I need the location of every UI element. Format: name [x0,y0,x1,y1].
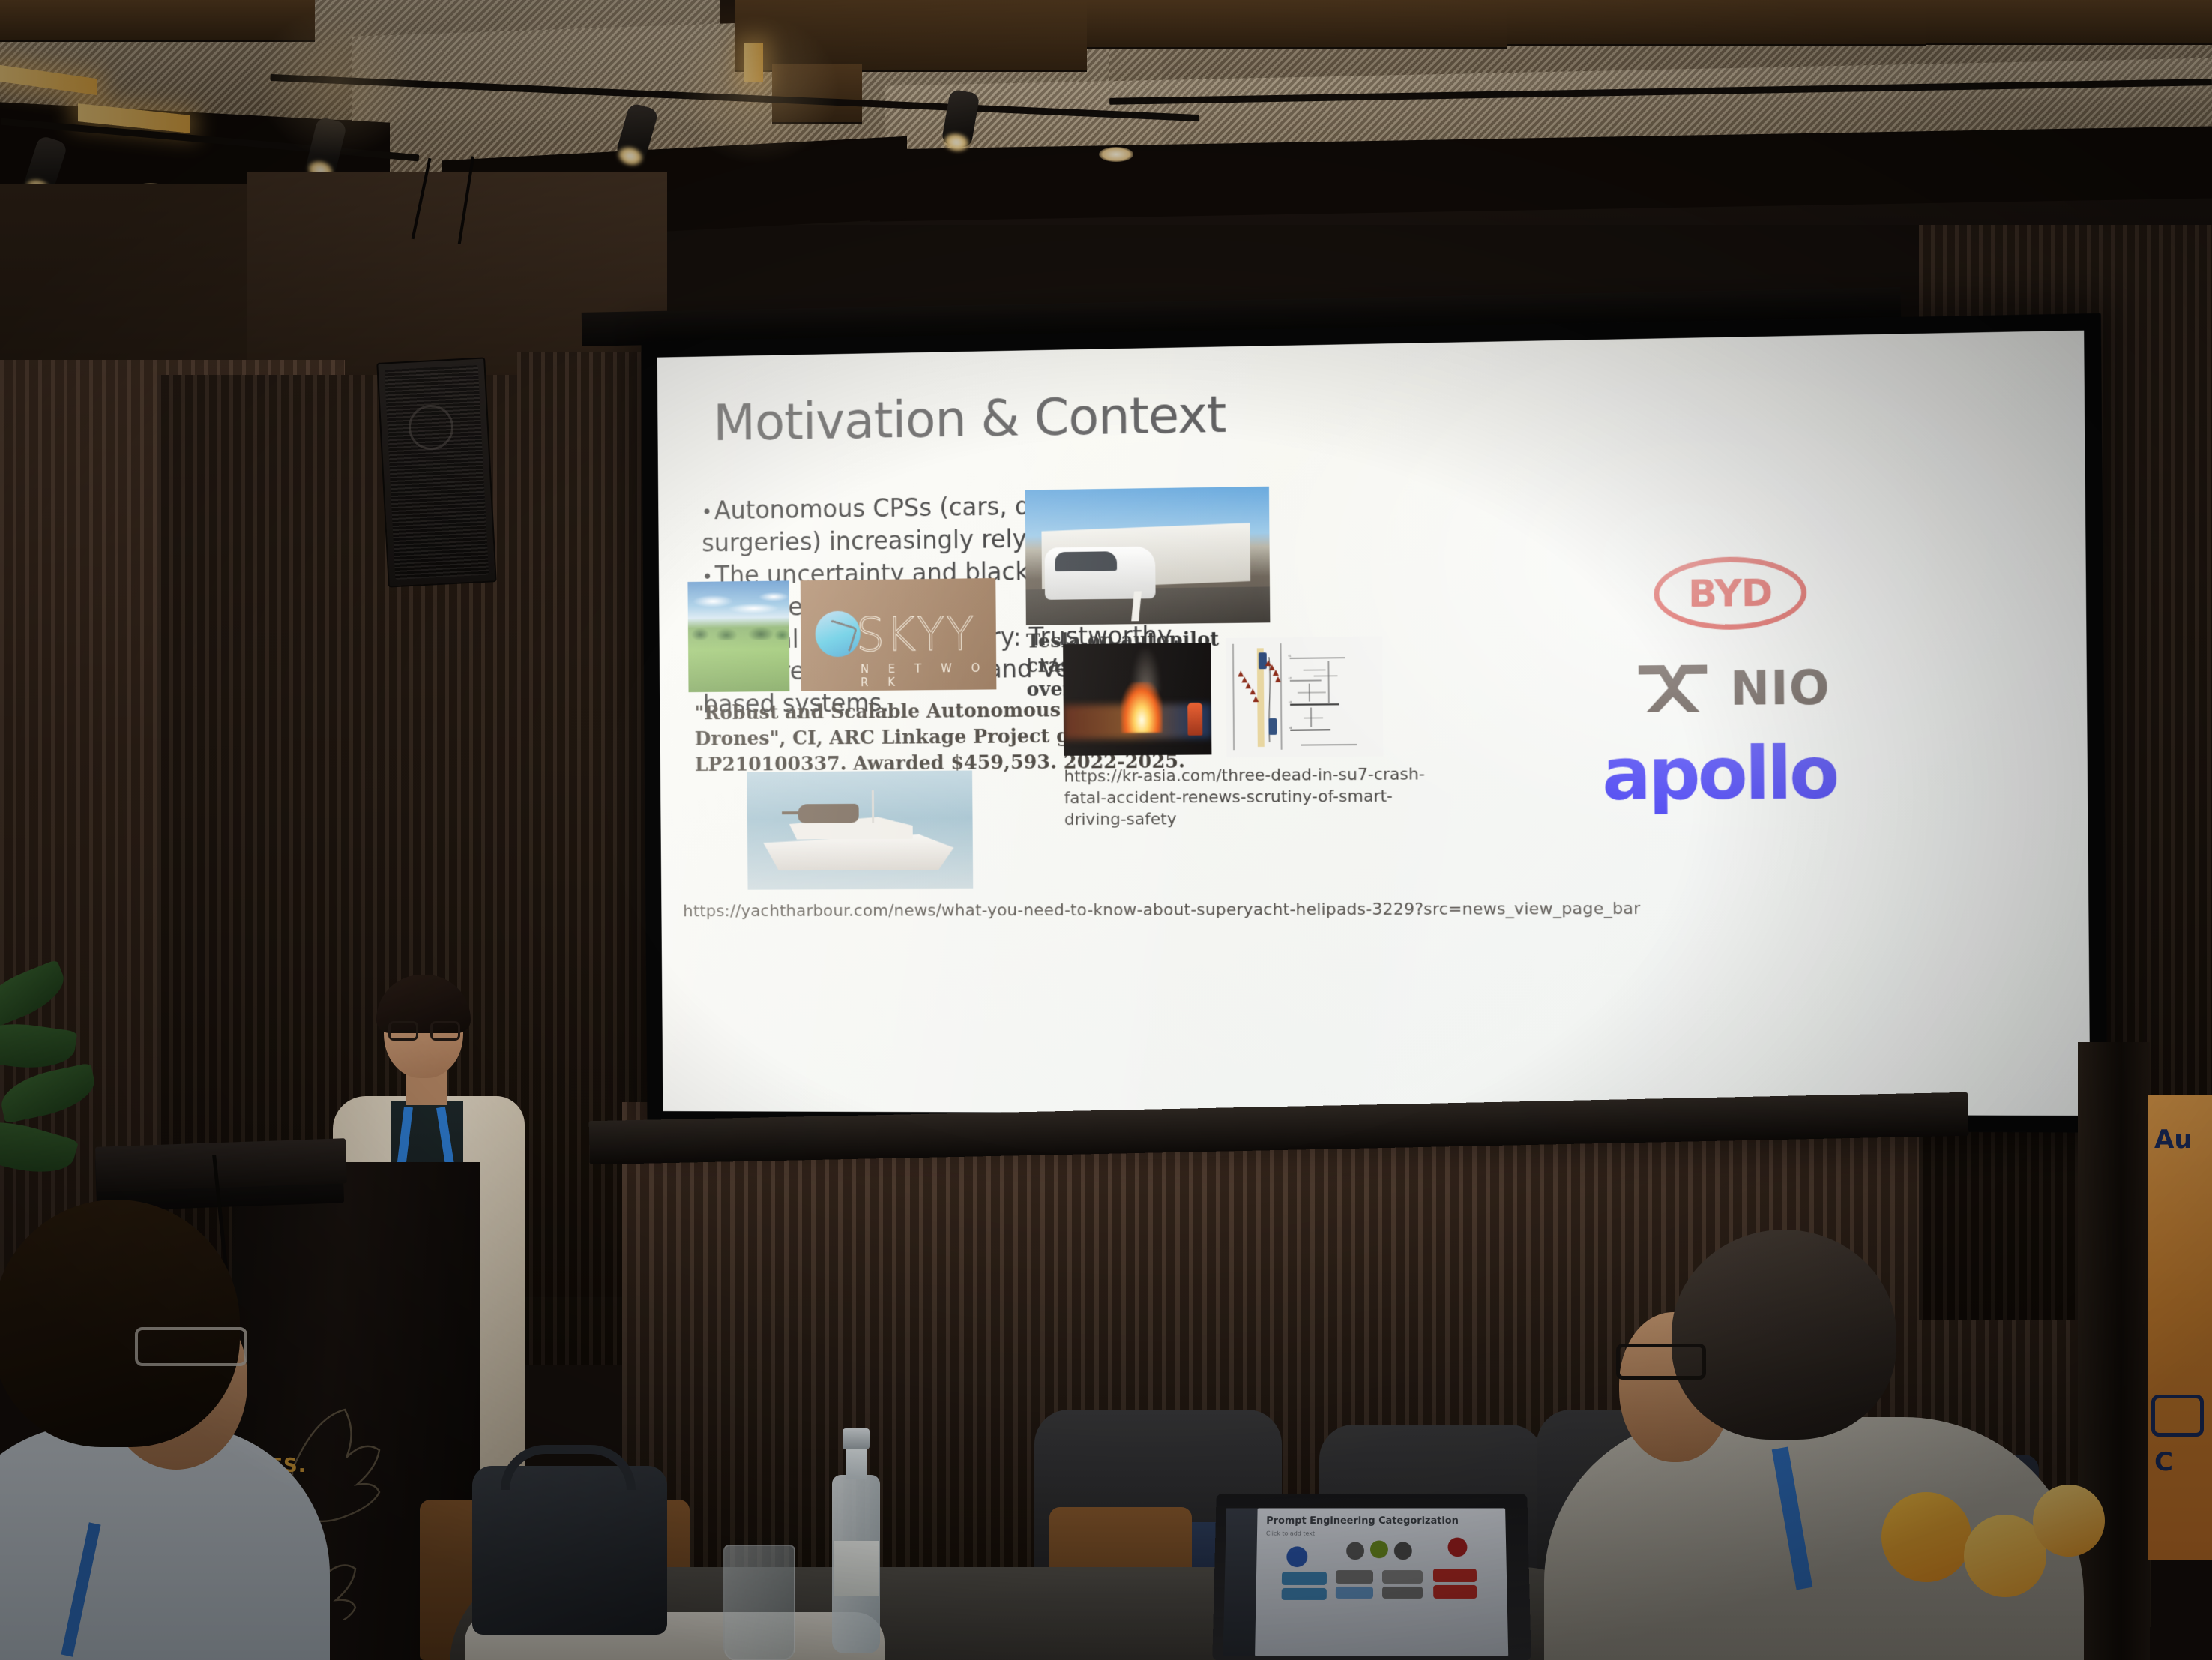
laptop-diagram-box [1433,1569,1477,1582]
bag-strap [501,1445,636,1490]
nio-wordmark: NIO [1730,659,1830,715]
ceiling-wood-beam [0,0,315,42]
laptop-diagram-node [1447,1538,1467,1557]
car-rear-window [1055,551,1117,571]
backpack-on-chair [472,1466,667,1635]
laptop-diagram-box [1282,1588,1327,1600]
plant-leaf [0,1017,77,1075]
krasia-source-url: https://kr-asia.com/three-dead-in-su7-cr… [1064,763,1436,831]
robot-icon [2151,1395,2204,1437]
laptop-slide-subtitle: Click to add text [1266,1530,1315,1537]
fire-flame [1121,682,1163,733]
svg-text:t1: t1 [1289,654,1292,658]
laptop-diagram-box [1382,1570,1423,1584]
tesla-crash-photo [1025,487,1270,625]
laptop-slide-panel[interactable] [1223,1508,1259,1656]
svg-text:t2: t2 [1289,676,1292,680]
presenter-glasses-icon [388,1021,460,1041]
audience-glasses-icon [135,1327,247,1366]
laptop-slide-title: Prompt Engineering Categorization [1266,1515,1459,1527]
yacht-hull [763,834,953,870]
apollo-logo: apollo [1602,730,1908,815]
diagram-svg: t1t2 t3t4 [1226,637,1383,758]
lectern-top-edge [95,1138,347,1192]
tshirt-mascot-graphic [1859,1470,2106,1660]
landscape-field-photo [687,580,789,692]
yacht-source-url: https://yachtharbour.com/news/what-you-n… [683,900,1641,921]
first-responder [1187,703,1202,736]
wall-washer-light [744,43,763,82]
svg-text:t4: t4 [1289,726,1292,730]
laptop-diagram-node [1346,1542,1364,1560]
ceiling-wood-beam [1926,0,2212,45]
speaker-driver-ring [409,405,453,450]
audience-glasses-icon [1616,1344,1706,1380]
projection-screen: Motivation & Context Autonomous CPSs (ca… [641,313,2107,1133]
slide-title: Motivation & Context [713,385,1226,453]
byd-wordmark: BYD [1654,556,1807,630]
nio-icon-svg [1636,661,1711,715]
bottle-cap [843,1428,870,1449]
laptop-screen[interactable]: Prompt Engineering Categorization Click … [1255,1508,1508,1656]
skyy-network-logo-image: SKYY N E T W O R K [801,578,997,691]
banner-secondary-text: C [2154,1447,2173,1477]
nio-mark-icon [1636,661,1711,715]
glasses-lens [430,1021,460,1041]
glasses-lens [388,1021,418,1041]
event-banner: Au C [2148,1095,2212,1560]
yacht-mast [872,790,874,823]
recessed-downlight [1099,147,1133,162]
laptop-diagram-box [1336,1587,1373,1599]
banner-title-text: Au [2154,1125,2193,1155]
bottle-label [834,1541,879,1596]
bottle-neck [846,1448,867,1479]
laptop-lid: Prompt Engineering Categorization Click … [1212,1494,1531,1660]
laptop-diagram-box [1336,1570,1373,1584]
crash-sequence-diagram: t1t2 t3t4 [1226,637,1383,758]
laptop-diagram-node [1370,1541,1388,1559]
drone-circle-icon [815,611,861,658]
line-array-speaker [376,357,497,587]
conference-room-photo: Motivation & Context Autonomous CPSs (ca… [0,0,2212,1660]
presentation-slide: Motivation & Context Autonomous CPSs (ca… [657,331,2091,1116]
plant-leaf [0,1062,99,1123]
audience-laptop: Prompt Engineering Categorization Click … [1212,1494,1531,1660]
water-bottle [831,1428,882,1653]
photo-treeline [688,619,789,641]
ceiling-wood-beam [735,0,1087,72]
svg-text:t3: t3 [1289,700,1292,704]
ceiling-wood-beam [1087,0,1507,49]
audience-head [0,1200,240,1447]
night-fire-crash-photo [1063,643,1211,756]
yacht-helipad-photo [747,770,973,889]
laptop-diagram-node [1286,1546,1307,1567]
skyy-subtitle: N E T W O R K [861,661,996,689]
skyy-wordmark: SKYY [856,607,976,662]
nio-logo: NIO [1636,652,1858,723]
byd-logo: BYD [1654,556,1807,630]
audience-head [1672,1230,1896,1440]
laptop-diagram-box [1382,1587,1423,1599]
mascot-shape [2033,1485,2105,1557]
laptop-diagram-box [1433,1585,1477,1599]
ceiling-wood-beam [1507,0,1926,46]
laptop-diagram-node [1394,1542,1412,1560]
speaker-grill [385,365,489,580]
helicopter-shape [798,804,859,823]
audience-member-left [0,1200,300,1660]
drinking-glass [723,1545,795,1660]
plant-leaf [0,959,72,1030]
laptop-diagram-box [1282,1572,1327,1585]
ceiling-wood-beam [772,64,862,124]
mascot-shape [1881,1492,1971,1582]
